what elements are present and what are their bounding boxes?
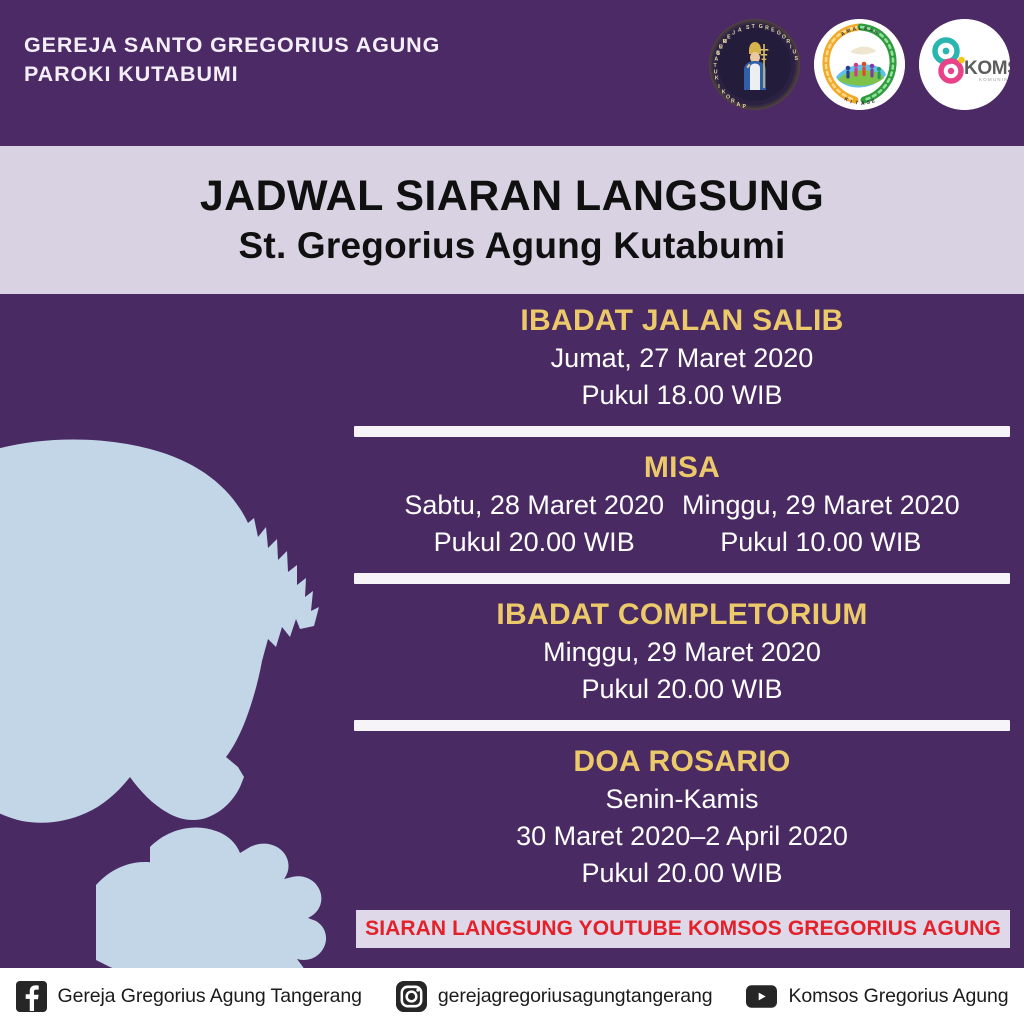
instagram-icon <box>396 981 427 1012</box>
schedule-entry-misa: MISA Sabtu, 28 Maret 2020 Pukul 20.00 WI… <box>352 447 1012 561</box>
seal-ring-text: G E R E J A S T G R E G O R I U S <box>709 19 800 110</box>
event-date: Sabtu, 28 Maret 2020 <box>404 487 664 524</box>
broadcast-banner-text: SIARAN LANGSUNG YOUTUBE KOMSOS GREGORIUS… <box>365 917 1001 941</box>
section-divider <box>354 573 1010 584</box>
schedule-entry-jalan-salib: IBADAT JALAN SALIB Jumat, 27 Maret 2020 … <box>352 300 1012 414</box>
komsos-icon: KOMSOS KOMUNIKASI SOSIAL <box>919 19 1010 110</box>
event-title: IBADAT JALAN SALIB <box>352 302 1012 340</box>
organization-name: GEREJA SANTO GREGORIUS AGUNG PAROKI KUTA… <box>24 31 440 89</box>
section-divider <box>354 720 1010 731</box>
pancasila-emblem-logo: A M A L K A N K I T A S E <box>814 19 905 110</box>
youtube-handle: Komsos Gregorius Agung <box>788 985 1008 1008</box>
church-seal-logo: G E R E J A S T G R E G O R I U S <box>709 19 800 110</box>
event-title: IBADAT COMPLETORIUM <box>352 596 1012 634</box>
pancasila-emblem-icon: A M A L K A N K I T A S E <box>814 19 905 110</box>
section-divider <box>354 426 1010 437</box>
event-time: Pukul 18.00 WIB <box>352 377 1012 414</box>
page-title: JADWAL SIARAN LANGSUNG <box>200 171 824 221</box>
schedule-entry-doa-rosario: DOA ROSARIO Senin-Kamis 30 Maret 2020–2 … <box>352 741 1012 892</box>
poster-canvas: GEREJA SANTO GREGORIUS AGUNG PAROKI KUTA… <box>0 0 1024 1024</box>
svg-text:A: A <box>861 101 865 107</box>
event-date: Minggu, 29 Maret 2020 <box>682 487 960 524</box>
svg-text:L: L <box>859 26 862 32</box>
poster-title-band: JADWAL SIARAN LANGSUNG St. Gregorius Agu… <box>0 146 1024 294</box>
schedule-entry-completorium: IBADAT COMPLETORIUM Minggu, 29 Maret 202… <box>352 594 1012 708</box>
facebook-handle: Gereja Gregorius Agung Tangerang <box>58 985 362 1008</box>
event-columns: Sabtu, 28 Maret 2020 Pukul 20.00 WIB Min… <box>352 487 1012 561</box>
event-time: Pukul 20.00 WIB <box>352 855 1012 892</box>
event-date: Minggu, 29 Maret 2020 <box>352 634 1012 671</box>
event-time: Pukul 20.00 WIB <box>404 524 664 561</box>
svg-text:KOMSOS: KOMSOS <box>964 58 1010 79</box>
event-date: 30 Maret 2020–2 April 2020 <box>352 818 1012 855</box>
instagram-handle: gerejagregoriusagungtangerang <box>438 985 713 1008</box>
event-column-sunday: Minggu, 29 Maret 2020 Pukul 10.00 WIB <box>682 487 960 561</box>
event-column-saturday: Sabtu, 28 Maret 2020 Pukul 20.00 WIB <box>404 487 664 561</box>
logo-row: G E R E J A S T G R E G O R I U S <box>709 19 1010 110</box>
svg-text:KOMUNIKASI SOSIAL: KOMUNIKASI SOSIAL <box>979 77 1010 82</box>
youtube-icon <box>746 981 777 1012</box>
social-instagram[interactable]: gerejagregoriusagungtangerang <box>396 981 713 1012</box>
social-facebook[interactable]: Gereja Gregorius Agung Tangerang <box>16 981 362 1012</box>
event-title: MISA <box>352 449 1012 487</box>
page-subtitle: St. Gregorius Agung Kutabumi <box>239 223 786 269</box>
komsos-logo: KOMSOS KOMUNIKASI SOSIAL <box>919 19 1010 110</box>
event-days: Senin-Kamis <box>352 781 1012 818</box>
social-footer: Gereja Gregorius Agung Tangerang gerejag… <box>0 968 1024 1024</box>
schedule-list: IBADAT JALAN SALIB Jumat, 27 Maret 2020 … <box>352 300 1012 892</box>
broadcast-banner: SIARAN LANGSUNG YOUTUBE KOMSOS GREGORIUS… <box>356 910 1010 948</box>
social-youtube[interactable]: Komsos Gregorius Agung <box>746 981 1008 1012</box>
event-date: Jumat, 27 Maret 2020 <box>352 340 1012 377</box>
poster-header: GEREJA SANTO GREGORIUS AGUNG PAROKI KUTA… <box>0 0 1024 146</box>
event-time: Pukul 10.00 WIB <box>682 524 960 561</box>
praying-person-silhouette <box>0 415 400 995</box>
event-title: DOA ROSARIO <box>352 743 1012 781</box>
facebook-icon <box>16 981 47 1012</box>
event-time: Pukul 20.00 WIB <box>352 671 1012 708</box>
